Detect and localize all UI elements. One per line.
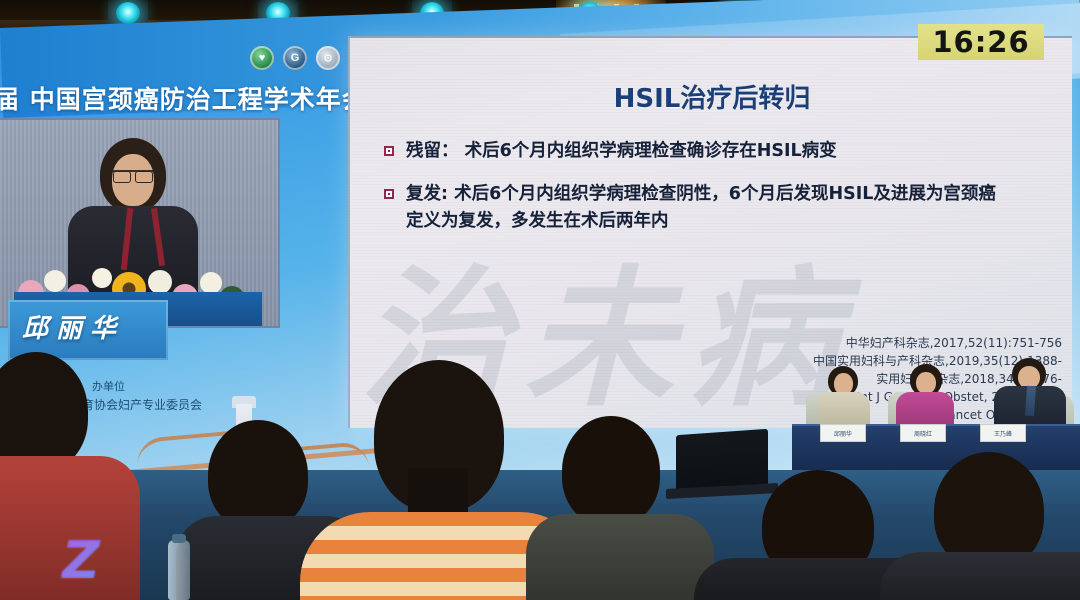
conference-photo-scene: ♥ G ⚙ 届 中国宫颈癌防治工程学术年会 邱丽华 办单位 优生优育协会妇产专业… [0,0,1080,600]
audience-head [0,352,88,472]
panelist [896,364,956,428]
audience-member [534,416,704,600]
slide-bullet-item: 残留： 术后6个月内组织学病理检查确诊存在HSIL病变 [384,138,1054,165]
panelist-torso [896,392,954,428]
square-bullet-icon [384,146,394,156]
speaker-glasses-icon [113,170,153,180]
org-logo-dark-glyph: G [283,46,307,70]
slide-bullet-text-group: 复发: 术后6个月内组织学病理检查阴性，6个月后发现HSIL及进展为宫颈癌 定义… [406,181,996,235]
panel-name-card-text: 邱丽华 [834,429,852,438]
panelist-face [916,372,936,394]
panel-name-card-text: 王乃峰 [994,429,1012,438]
audience-member [900,452,1080,600]
org-logo-green-icon: ♥ [250,46,274,70]
audience-head [208,420,308,530]
panel-name-card: 邱丽华 [820,424,866,442]
slide-bullet-list: 残留： 术后6个月内组织学病理检查确诊存在HSIL病变 复发: 术后6个月内组织… [384,138,1054,251]
panel-name-card: 周晓红 [900,424,946,442]
stage-light [116,2,140,24]
conference-banner-title: 届 中国宫颈癌防治工程学术年会 [0,80,346,116]
audience-shoulders [880,552,1080,600]
square-bullet-icon [384,189,394,199]
slide-bullet-text: 复发: 术后6个月内组织学病理检查阴性，6个月后发现HSIL及进展为宫颈癌 [406,181,996,208]
watermark-logo: Z [62,536,118,588]
panelist [992,358,1068,428]
clock-time: 16:26 [932,25,1029,59]
org-logo-gray-glyph: ⚙ [316,46,340,70]
reference-line: 中华妇产科杂志,2017,52(11):751-756 [642,334,1062,352]
speaker-nameplate: 邱丽华 [8,300,168,360]
audience-shoulders [526,514,714,600]
water-bottle-cap [172,534,186,543]
panel-name-card-text: 周晓红 [914,429,932,438]
org-logo-dark-icon: G [283,46,307,70]
slide-bullet-text-continued: 定义为复发，多发生在术后两年内 [406,208,996,235]
org-logo-green-glyph: ♥ [250,46,274,70]
countdown-clock: 16:26 [918,24,1044,60]
water-bottle [168,540,190,600]
panel-name-card: 王乃峰 [980,424,1026,442]
slide-bullet-text: 残留： 术后6个月内组织学病理检查确诊存在HSIL病变 [406,138,837,165]
backdrop-video-panel [0,118,280,328]
slide-bullet-item: 复发: 术后6个月内组织学病理检查阴性，6个月后发现HSIL及进展为宫颈癌 定义… [384,181,1054,235]
slide-title: HSIL治疗后转归 [350,78,1072,115]
speaker-name-text: 邱丽华 [22,308,124,345]
org-logo-gray-icon: ⚙ [316,46,340,70]
banner-logo-group: ♥ G ⚙ [250,46,340,70]
audience-head [562,416,660,526]
panelist [816,366,872,428]
